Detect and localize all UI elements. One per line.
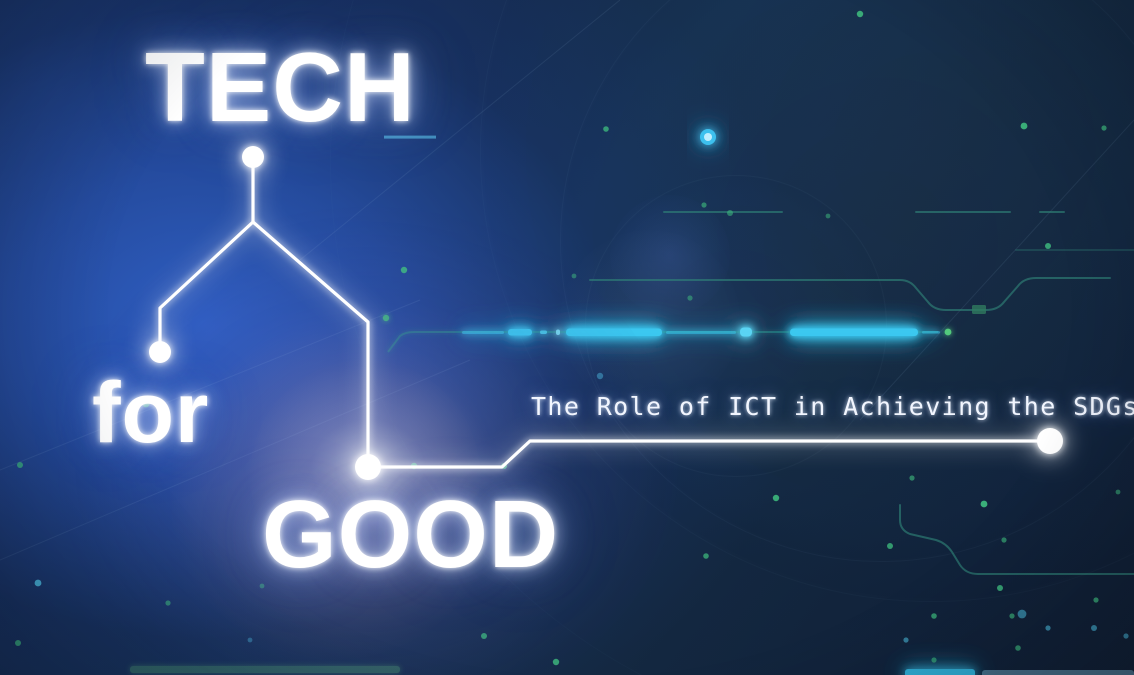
slide-canvas: TECH for GOOD The Role of ICT in Achievi… [0,0,1134,675]
background-vignette [0,0,1134,675]
